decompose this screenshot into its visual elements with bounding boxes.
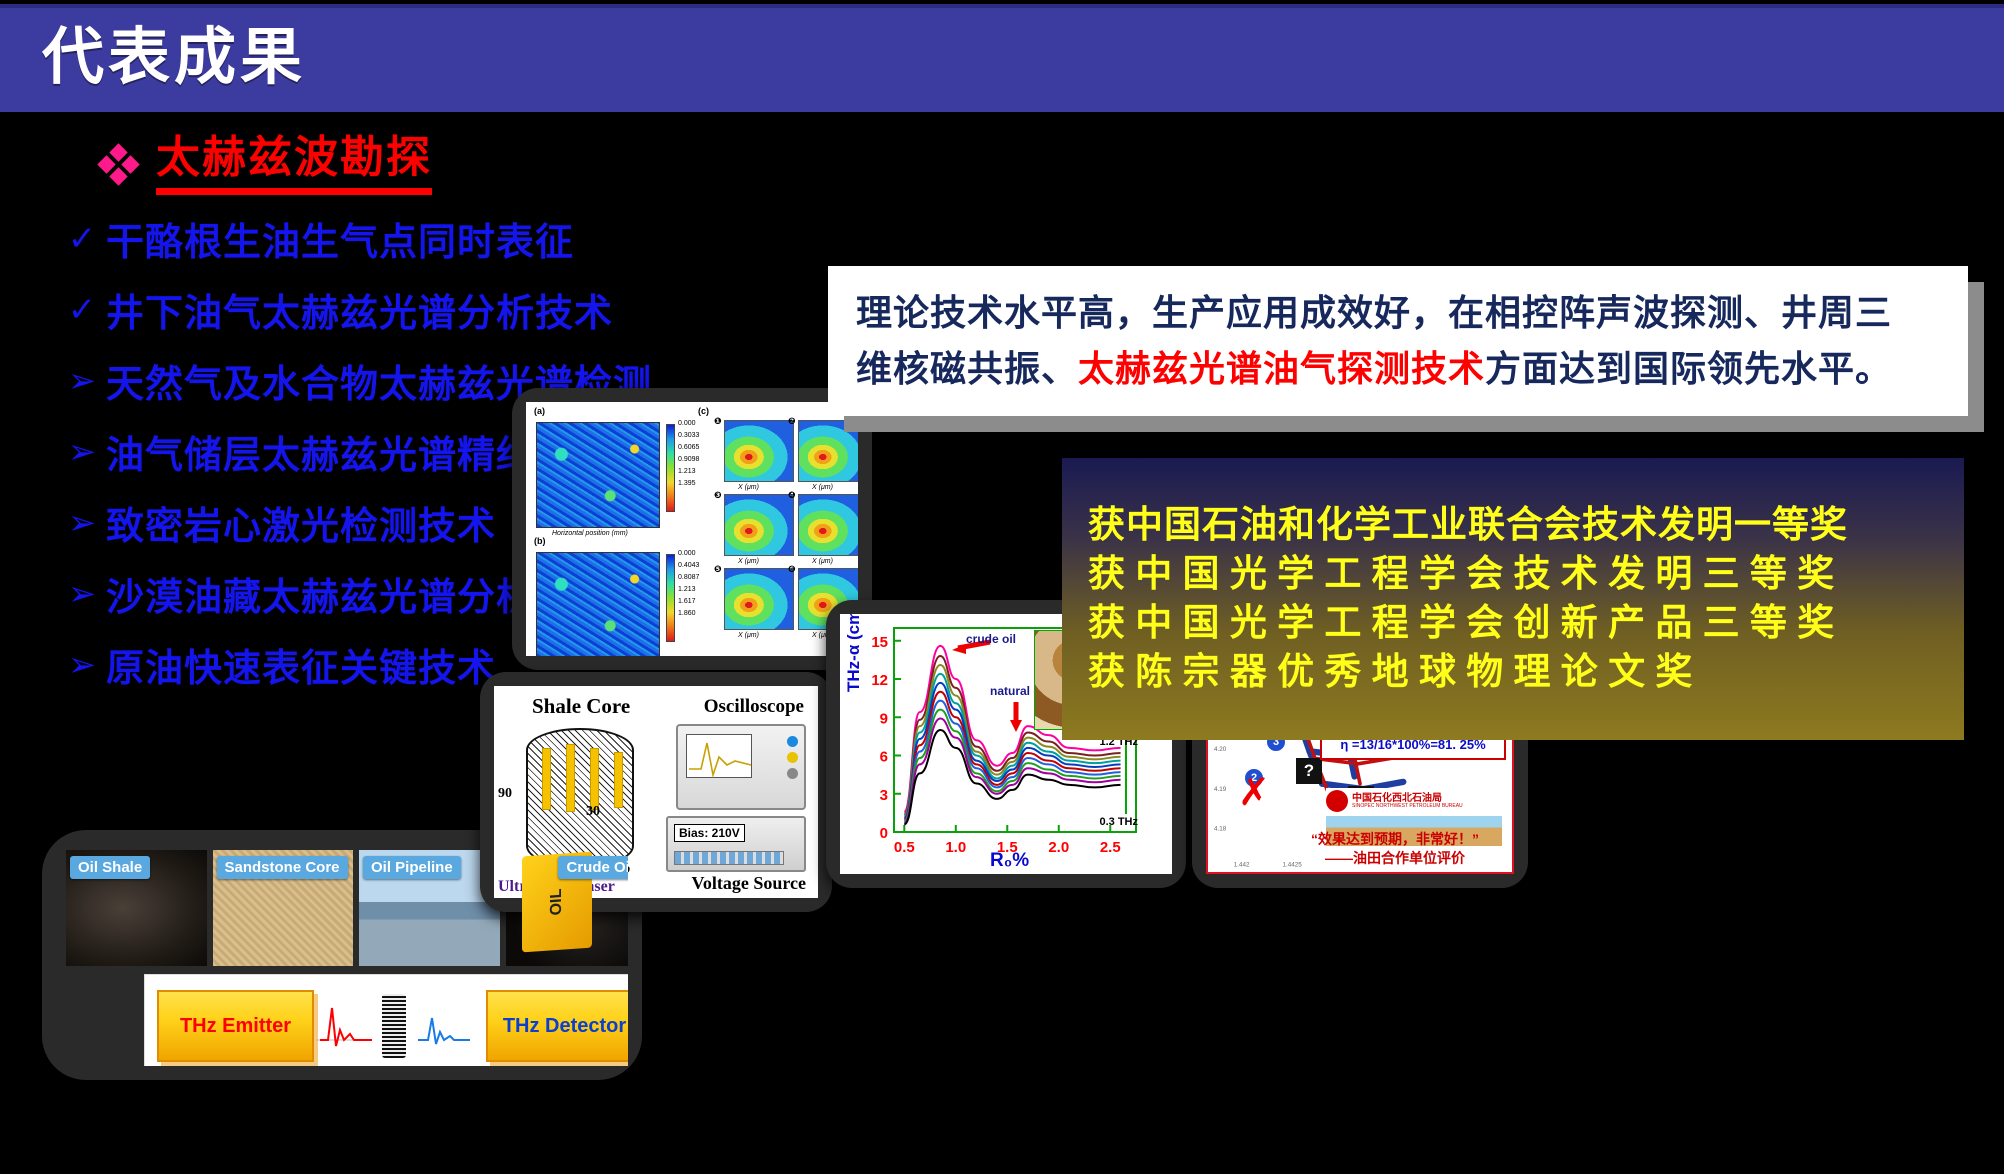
diamond-bullet-icon xyxy=(100,146,138,184)
svg-text:4.20: 4.20 xyxy=(1214,746,1227,753)
statement-line-1: 理论技术水平高，生产应用成效好，在相控阵声波探测、井周三 xyxy=(856,285,1940,341)
surface-plot-4 xyxy=(798,494,858,556)
svg-text:3: 3 xyxy=(880,787,888,804)
shale-core-title: Shale Core xyxy=(532,694,630,719)
svg-text:1.0: 1.0 xyxy=(945,839,966,856)
thz-detector-box: THz Detector xyxy=(486,990,628,1062)
sample-caption: Oil Shale xyxy=(70,856,150,879)
list-item[interactable]: ✓ 干酪根生油生气点同时表征 xyxy=(58,211,660,266)
quote-line-1: “效果达到预期，非常好！” xyxy=(1270,830,1514,849)
chart-x-axis-label: R₀% xyxy=(990,850,1029,872)
title-bar-accent xyxy=(0,4,2004,8)
colorbar-a xyxy=(666,424,675,512)
svg-text:12: 12 xyxy=(871,672,888,689)
arrow-icon: ➢ xyxy=(58,432,106,472)
core-bar-3 xyxy=(590,748,599,810)
svg-text:2.0: 2.0 xyxy=(1048,839,1069,856)
rock-sample-icon xyxy=(382,994,406,1058)
list-item-label: 井下油气太赫兹光谱分析技术 xyxy=(106,282,613,337)
arrow-icon: ➢ xyxy=(58,645,106,685)
surface-num-3: ❸ xyxy=(714,490,722,501)
thz-measurement-schematic: THz Emitter THz Detector xyxy=(144,974,628,1066)
page-title: 代表成果 xyxy=(42,27,306,89)
angle-30-label: 30 xyxy=(586,804,600,820)
svg-text:0.5: 0.5 xyxy=(894,839,915,856)
thz-pulse-blue-icon xyxy=(412,1000,474,1052)
surface-plot-2 xyxy=(798,420,858,482)
list-item-label: 沙漠油藏太赫兹光谱分析 xyxy=(106,566,535,621)
quote-line-2: ——油田合作单位评价 xyxy=(1270,849,1514,868)
surface-plot-3 xyxy=(724,494,794,556)
chart-y-axis-label: THz-α (cm⁻¹) xyxy=(844,614,864,692)
check-icon: ✓ xyxy=(58,219,106,259)
svg-text:6: 6 xyxy=(880,749,888,766)
surface-plot-5 xyxy=(724,568,794,630)
voltage-source-label: Voltage Source xyxy=(692,873,807,894)
angle-90-label: 90 xyxy=(498,786,512,802)
sample-oil-pipeline: Oil Pipeline xyxy=(359,850,500,966)
surf-x-label: X (μm) xyxy=(812,558,833,565)
colorbar-b-ticks: 0.0000.4043 0.80871.213 1.6171.860 xyxy=(678,548,699,620)
list-item-label: 原油快速表征关键技术 xyxy=(106,637,496,692)
surface-num-4: ❹ xyxy=(788,490,796,501)
oil-can-label: OIL xyxy=(548,888,566,916)
award-item-3: 获 中 国 光 学 工 程 学 会 创 新 产 品 三 等 奖 xyxy=(1088,599,1938,648)
sinopec-logo: 中国石化西北石油局 SINOPEC NORTHWEST PETROLEUM BU… xyxy=(1326,788,1502,814)
surface-num-6: ❻ xyxy=(788,564,796,575)
figure-label-a: (a) xyxy=(534,406,545,416)
thz-pulse-red-icon xyxy=(314,1000,376,1052)
surf-x-label: X (μm) xyxy=(738,632,759,639)
sample-oil-shale: Oil Shale xyxy=(66,850,207,966)
statement-line-2-post: 方面达到国际领先水平。 xyxy=(1485,348,1892,389)
sample-caption: Oil Pipeline xyxy=(363,856,461,879)
samples-photo-panel: Oil Shale Sandstone Core Oil Pipeline OI… xyxy=(42,830,642,1080)
oscilloscope-label: Oscilloscope xyxy=(704,696,804,718)
bias-label: Bias: 210V xyxy=(674,824,745,842)
awards-callout: 获中国石油和化学工业联合会技术发明一等奖 获 中 国 光 学 工 程 学 会 技… xyxy=(1062,458,1964,740)
thz-imaging-figure-panel: (a) (b) (c) 0.0000.3033 0.60650.9098 1.2… xyxy=(512,388,872,670)
surface-num-2: ❷ xyxy=(788,416,796,427)
list-item-label: 干酪根生油生气点同时表征 xyxy=(106,211,574,266)
svg-text:1.442: 1.442 xyxy=(1234,862,1250,869)
svg-text:0: 0 xyxy=(880,825,888,842)
arrow-icon: ➢ xyxy=(58,503,106,543)
failed-well-marker-2: ✗ xyxy=(1238,774,1270,812)
sample-caption: Crude Oil xyxy=(558,856,628,879)
list-item[interactable]: ✓ 井下油气太赫兹光谱分析技术 xyxy=(58,282,660,337)
customer-quote: “效果达到预期，非常好！” ——油田合作单位评价 xyxy=(1270,830,1514,868)
waveform-icon xyxy=(687,735,753,779)
colorbar-a-ticks: 0.0000.3033 0.60650.9098 1.2131.395 xyxy=(678,418,699,490)
statement-line-2: 维核磁共振、太赫兹光谱油气探测技术方面达到国际领先水平。 xyxy=(856,341,1940,397)
award-item-2: 获 中 国 光 学 工 程 学 会 技 术 发 明 三 等 奖 xyxy=(1088,550,1938,599)
oscilloscope-icon xyxy=(676,724,806,810)
section-title: 太赫兹波勘探 xyxy=(156,134,432,195)
sample-sandstone-core: Sandstone Core xyxy=(213,850,354,966)
thz-image-map-b xyxy=(536,552,660,656)
figure-label-c: (c) xyxy=(698,406,709,416)
core-bar-2 xyxy=(566,744,575,812)
sinopec-logo-icon xyxy=(1326,790,1348,812)
thz-emitter-box: THz Emitter xyxy=(157,990,314,1062)
surface-plot-1 xyxy=(724,420,794,482)
map-x-axis-label: Horizontal position (mm) xyxy=(552,530,628,537)
list-item-label: 致密岩心激光检测技术 xyxy=(106,495,496,550)
check-icon: ✓ xyxy=(58,290,106,330)
oscilloscope-screen xyxy=(686,734,752,778)
core-bar-4 xyxy=(614,752,623,808)
sinopec-name-en: SINOPEC NORTHWEST PETROLEUM BUREAU xyxy=(1352,804,1463,810)
svg-text:9: 9 xyxy=(880,710,888,727)
svg-text:4.18: 4.18 xyxy=(1214,826,1227,833)
sample-caption: Sandstone Core xyxy=(217,856,348,879)
core-bar-1 xyxy=(542,748,551,810)
colorbar-b xyxy=(666,554,675,642)
arrow-icon: ➢ xyxy=(58,574,106,614)
unknown-marker-2[interactable]: ? xyxy=(1296,758,1322,784)
statement-line-2-pre: 维核磁共振、 xyxy=(856,348,1078,389)
surf-x-label: X (μm) xyxy=(738,484,759,491)
award-item-4: 获 陈 宗 器 优 秀 地 球 物 理 论 文 奖 xyxy=(1088,648,1938,697)
voltage-source-icon: Bias: 210V xyxy=(666,816,806,872)
section-header: 太赫兹波勘探 xyxy=(100,134,660,195)
svg-text:4.19: 4.19 xyxy=(1214,786,1227,793)
annotation-0-3-thz: 0.3 THz xyxy=(1099,816,1138,828)
award-item-1: 获中国石油和化学工业联合会技术发明一等奖 xyxy=(1088,501,1938,550)
surface-num-5: ❺ xyxy=(714,564,722,575)
annotation-crude-oil: crude oil xyxy=(966,632,1016,646)
statement-highlight: 太赫兹光谱油气探测技术 xyxy=(1078,348,1485,389)
title-bar: 代表成果 xyxy=(0,4,2004,112)
arrow-icon: ➢ xyxy=(58,361,106,401)
surf-x-label: X (μm) xyxy=(812,484,833,491)
surf-x-label: X (μm) xyxy=(738,558,759,565)
figure-label-b: (b) xyxy=(534,536,546,546)
thz-image-map-a xyxy=(536,422,660,528)
statement-callout: 理论技术水平高，生产应用成效好，在相控阵声波探测、井周三 维核磁共振、太赫兹光谱… xyxy=(828,266,1968,416)
svg-text:15: 15 xyxy=(871,634,888,651)
surface-num-1: ❶ xyxy=(714,416,722,427)
sample-strip: Oil Shale Sandstone Core Oil Pipeline OI… xyxy=(66,850,628,966)
svg-text:2.5: 2.5 xyxy=(1100,839,1121,856)
